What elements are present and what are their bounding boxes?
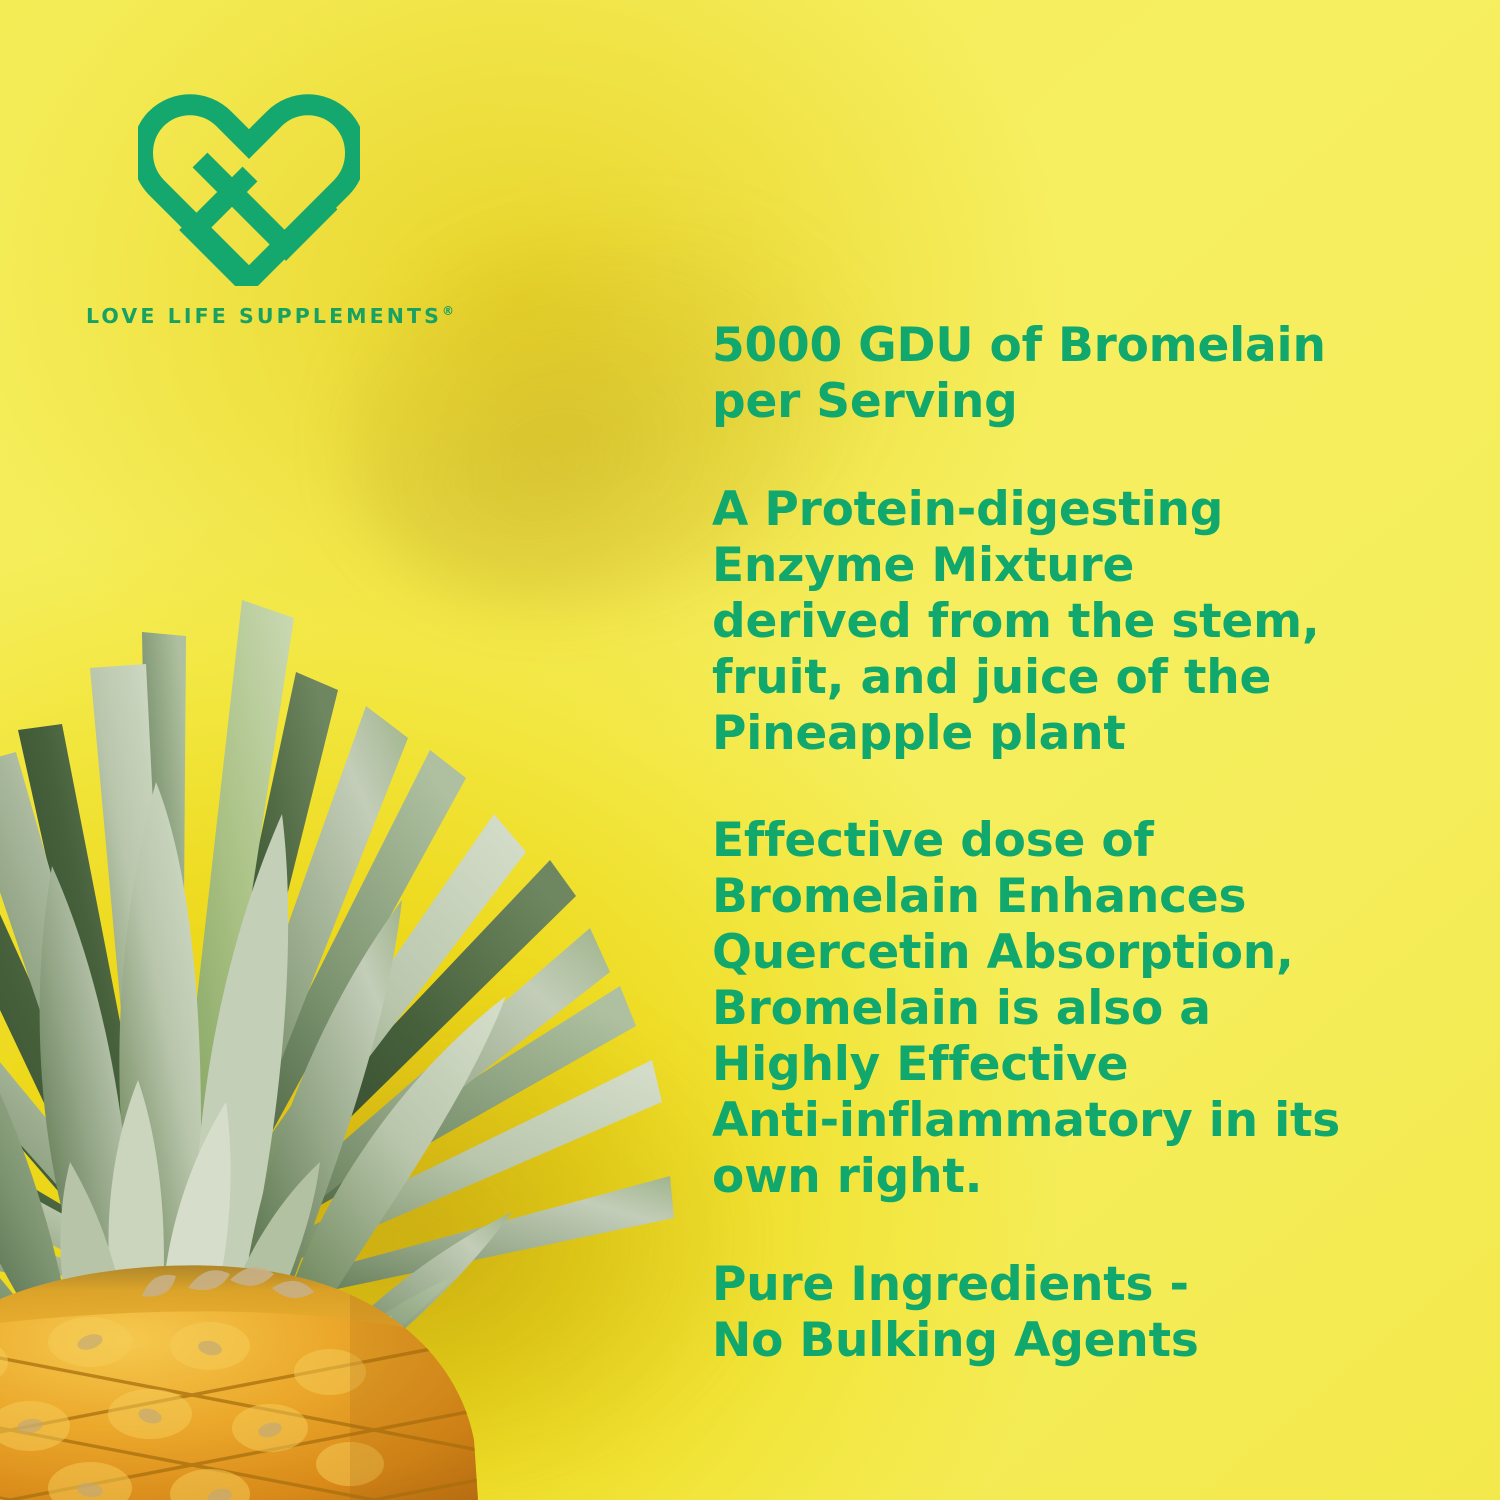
copy-line: Quercetin Absorption, [712, 925, 1452, 981]
copy-paragraph-purity-claim: Pure Ingredients - No Bulking Agents [712, 1257, 1452, 1369]
copy-line: A Protein-digesting [712, 482, 1452, 538]
copy-paragraph-absorption-claim: Effective dose of Bromelain Enhances Que… [712, 813, 1452, 1204]
brand-wordmark: LOVE LIFE SUPPLEMENTS® [86, 304, 426, 328]
copy-line: Pure Ingredients - [712, 1257, 1452, 1313]
backdrop-shadow-lower [250, 980, 770, 1500]
copy-line: Effective dose of [712, 813, 1452, 869]
brand-logo-block: LOVE LIFE SUPPLEMENTS® [86, 92, 426, 328]
crown-leaves-mid [0, 600, 674, 1306]
copy-line: own right. [712, 1149, 1452, 1205]
copy-line: derived from the stem, [712, 594, 1452, 650]
product-marketing-image: LOVE LIFE SUPPLEMENTS® 5000 GDU of Brome… [0, 0, 1500, 1500]
copy-line: Bromelain is also a [712, 981, 1452, 1037]
copy-line: fruit, and juice of the [712, 650, 1452, 706]
pineapple-image [0, 300, 710, 1500]
crown-leaves-front [0, 782, 512, 1482]
pineapple-fruit-body [0, 1230, 550, 1500]
copy-line: Enzyme Mixture [712, 538, 1452, 594]
copy-line: No Bulking Agents [712, 1313, 1452, 1369]
copy-line: Anti-inflammatory in its [712, 1093, 1452, 1149]
copy-paragraph-enzyme-description: A Protein-digesting Enzyme Mixture deriv… [712, 482, 1452, 762]
copy-line: 5000 GDU of Bromelain [712, 318, 1452, 374]
marketing-copy-column: 5000 GDU of Bromelain per Serving A Prot… [712, 318, 1452, 1369]
pineapple-illustration [0, 300, 710, 1500]
heart-double-l-logo-icon [138, 92, 360, 286]
copy-line: Highly Effective [712, 1037, 1452, 1093]
registered-mark: ® [442, 304, 454, 318]
crown-leaves-back [0, 632, 636, 1244]
copy-paragraph-gdu-claim: 5000 GDU of Bromelain per Serving [712, 318, 1452, 430]
copy-line: Bromelain Enhances [712, 869, 1452, 925]
brand-name-text: LOVE LIFE SUPPLEMENTS [86, 304, 442, 328]
copy-line: Pineapple plant [712, 706, 1452, 762]
copy-line: per Serving [712, 374, 1452, 430]
fruit-bract-tufts [142, 1267, 314, 1298]
